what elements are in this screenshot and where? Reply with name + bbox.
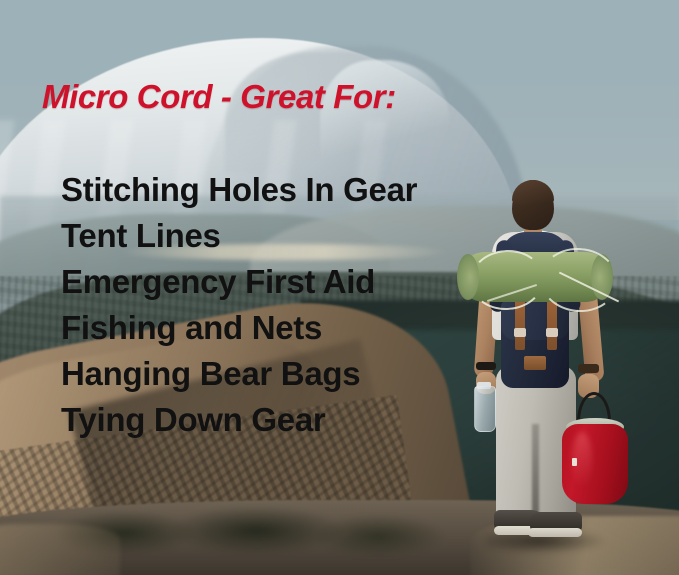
list-item: Stitching Holes In Gear — [61, 167, 417, 213]
list-item: Tent Lines — [61, 213, 417, 259]
use-case-list: Stitching Holes In Gear Tent Lines Emerg… — [61, 167, 417, 443]
promo-image: Micro Cord - Great For: Stitching Holes … — [0, 0, 679, 575]
text-overlay: Micro Cord - Great For: Stitching Holes … — [0, 0, 679, 575]
headline-text: Micro Cord - Great For: — [42, 78, 396, 116]
list-item: Tying Down Gear — [61, 397, 417, 443]
list-item: Fishing and Nets — [61, 305, 417, 351]
list-item: Hanging Bear Bags — [61, 351, 417, 397]
list-item: Emergency First Aid — [61, 259, 417, 305]
